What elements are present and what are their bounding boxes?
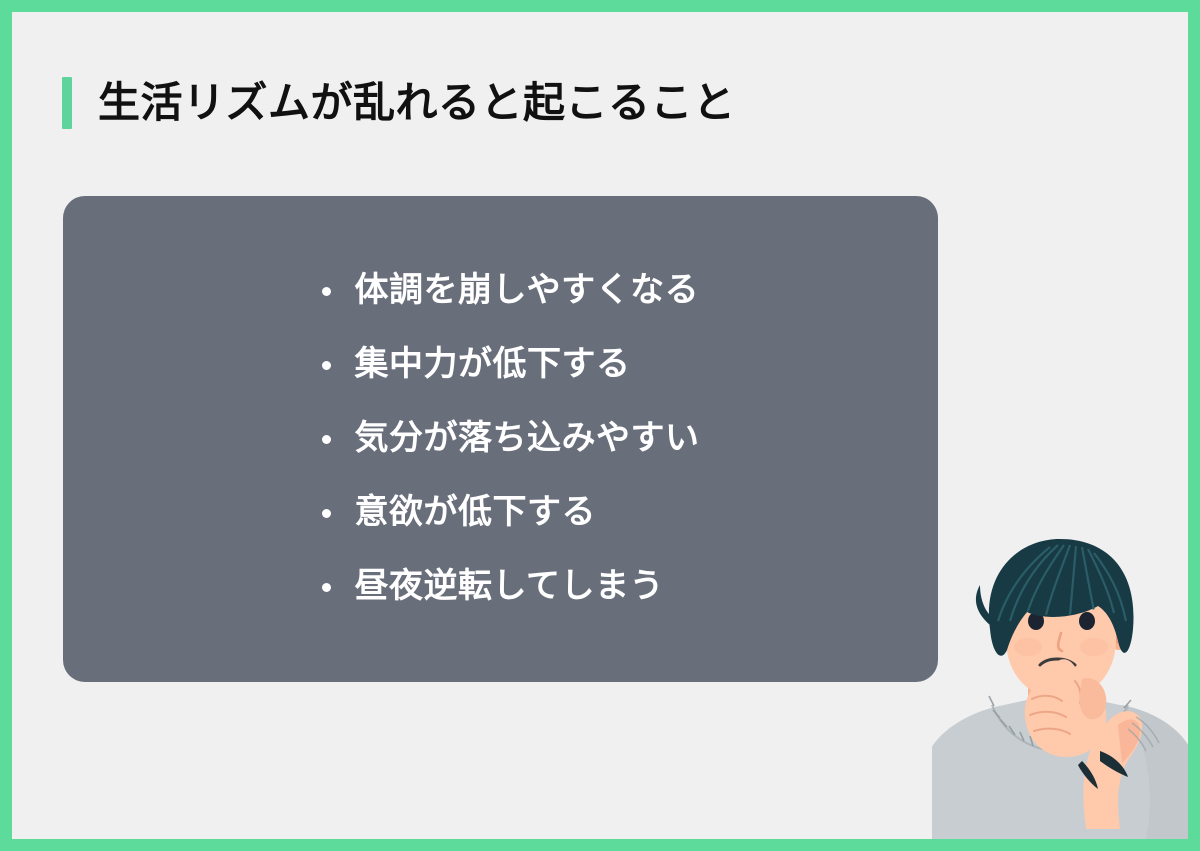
list-item-label: 意欲が低下する bbox=[355, 493, 597, 532]
bullet-dot-icon bbox=[322, 361, 331, 370]
neck-shape bbox=[1028, 649, 1094, 725]
sweater-shape bbox=[932, 697, 1188, 839]
slide-root: 生活リズムが乱れると起こること 体調を崩しやすくなる 集中力が低下する 気分が落… bbox=[0, 0, 1200, 851]
thinking-man-svg bbox=[932, 529, 1188, 839]
slide-inner-panel: 生活リズムが乱れると起こること 体調を崩しやすくなる 集中力が低下する 気分が落… bbox=[12, 12, 1188, 839]
list-item: 昼夜逆転してしまう bbox=[322, 550, 700, 624]
list-item-label: 集中力が低下する bbox=[355, 345, 631, 384]
bullet-dot-icon bbox=[322, 287, 331, 296]
eyes-shape bbox=[1028, 612, 1095, 630]
hair-shape bbox=[976, 539, 1134, 656]
page-title-row: 生活リズムが乱れると起こること bbox=[62, 75, 736, 131]
list-item: 気分が落ち込みやすい bbox=[322, 402, 700, 476]
list-item: 意欲が低下する bbox=[322, 476, 700, 550]
sleeve-cuff-shape bbox=[1078, 717, 1159, 789]
hand-shape bbox=[1025, 659, 1107, 757]
collar-stitching bbox=[989, 696, 1131, 751]
list-item-label: 体調を崩しやすくなる bbox=[355, 271, 700, 310]
list-item-label: 昼夜逆転してしまう bbox=[355, 567, 664, 606]
bullet-dot-icon bbox=[322, 509, 331, 518]
title-accent-bar bbox=[62, 77, 72, 129]
thinking-man-illustration bbox=[932, 529, 1188, 839]
list-item-label: 気分が落ち込みやすい bbox=[355, 419, 700, 458]
mouth-shape bbox=[1040, 659, 1075, 665]
arm-shape bbox=[1083, 711, 1142, 829]
eyebrows-shape bbox=[1020, 594, 1102, 607]
list-item: 集中力が低下する bbox=[322, 328, 700, 402]
bullet-list: 体調を崩しやすくなる 集中力が低下する 気分が落ち込みやすい 意欲が低下する 昼… bbox=[322, 254, 700, 624]
bullet-dot-icon bbox=[322, 583, 331, 592]
bullet-dot-icon bbox=[322, 435, 331, 444]
list-item: 体調を崩しやすくなる bbox=[322, 254, 700, 328]
face-shape bbox=[1006, 551, 1116, 699]
content-card: 体調を崩しやすくなる 集中力が低下する 気分が落ち込みやすい 意欲が低下する 昼… bbox=[63, 196, 938, 682]
nose-shape bbox=[1058, 633, 1062, 651]
page-title: 生活リズムが乱れると起こること bbox=[98, 82, 736, 124]
ears-shape bbox=[992, 620, 1130, 650]
